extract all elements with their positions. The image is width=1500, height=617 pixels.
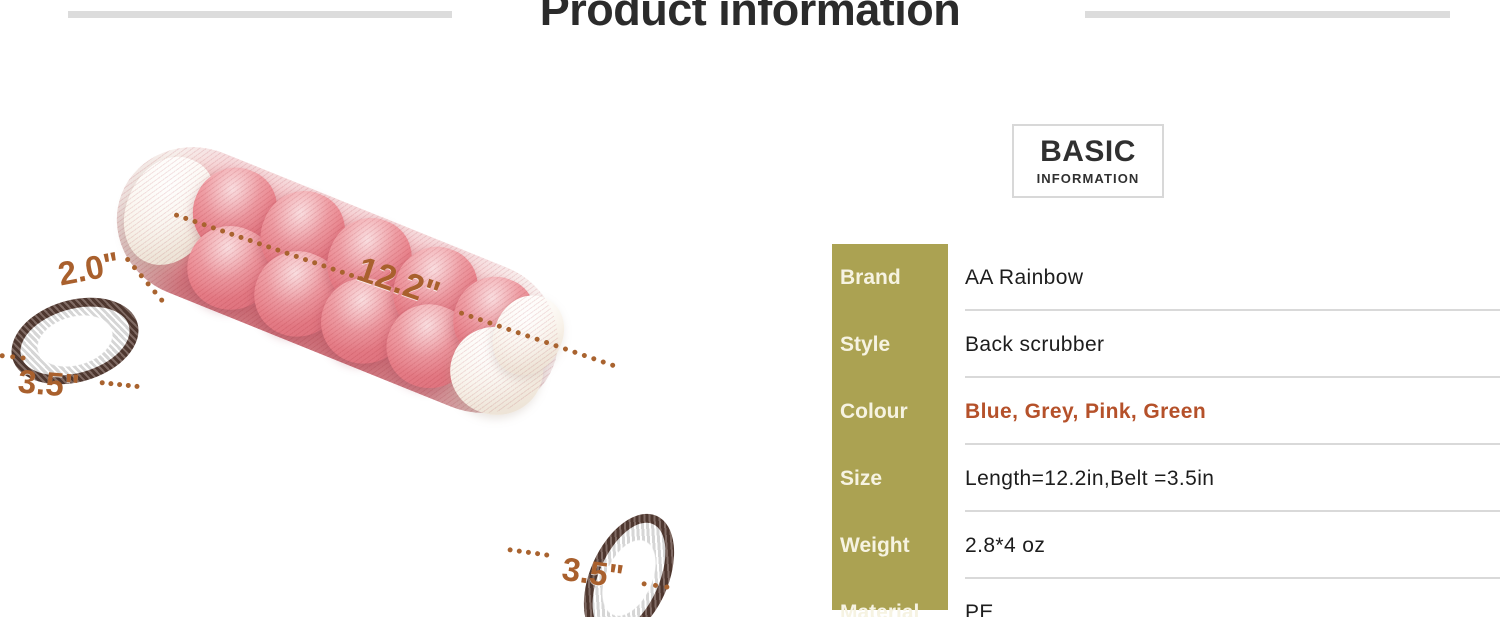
- leader-line-belt-right-a: [507, 547, 549, 558]
- product-information-page: Product information: [0, 0, 1500, 617]
- spec-value-size: Length=12.2in,Belt =3.5in: [965, 445, 1500, 512]
- spec-label-colour: Colour: [840, 378, 948, 445]
- dimension-label-width-top: 2.0": [55, 244, 123, 293]
- table-row: Size Length=12.2in,Belt =3.5in: [832, 445, 1500, 512]
- leader-line-belt-left-b: [99, 380, 139, 389]
- table-row: Weight 2.8*4 oz: [832, 512, 1500, 579]
- dimension-label-belt-left: 3.5": [16, 362, 81, 405]
- table-row: Style Back scrubber: [832, 311, 1500, 378]
- table-row: Material PE: [832, 579, 1500, 617]
- spec-label-material: Material: [840, 579, 948, 617]
- badge-subtitle: INFORMATION: [1037, 172, 1140, 185]
- scrubber-body: [94, 123, 581, 436]
- spec-label-size: Size: [840, 445, 948, 512]
- spec-table: Brand AA Rainbow Style Back scrubber Col…: [832, 244, 1500, 617]
- spec-label-weight: Weight: [840, 512, 948, 579]
- spec-label-style: Style: [840, 311, 948, 378]
- badge-title: BASIC: [1040, 137, 1136, 167]
- page-title: Product information: [0, 0, 1500, 36]
- dimension-label-belt-right: 3.5": [560, 550, 626, 596]
- spec-value-colour: Blue, Grey, Pink, Green: [965, 378, 1500, 445]
- spec-value-brand: AA Rainbow: [965, 244, 1500, 311]
- table-row: Brand AA Rainbow: [832, 244, 1500, 311]
- product-photo: 2.0" 12.2" 3.5" 3.5": [0, 60, 800, 617]
- spec-label-brand: Brand: [840, 244, 948, 311]
- table-row: Colour Blue, Grey, Pink, Green: [832, 378, 1500, 445]
- spec-value-weight: 2.8*4 oz: [965, 512, 1500, 579]
- spec-value-material: PE: [965, 579, 1500, 617]
- spec-value-style: Back scrubber: [965, 311, 1500, 378]
- basic-information-badge: BASIC INFORMATION: [1012, 124, 1164, 198]
